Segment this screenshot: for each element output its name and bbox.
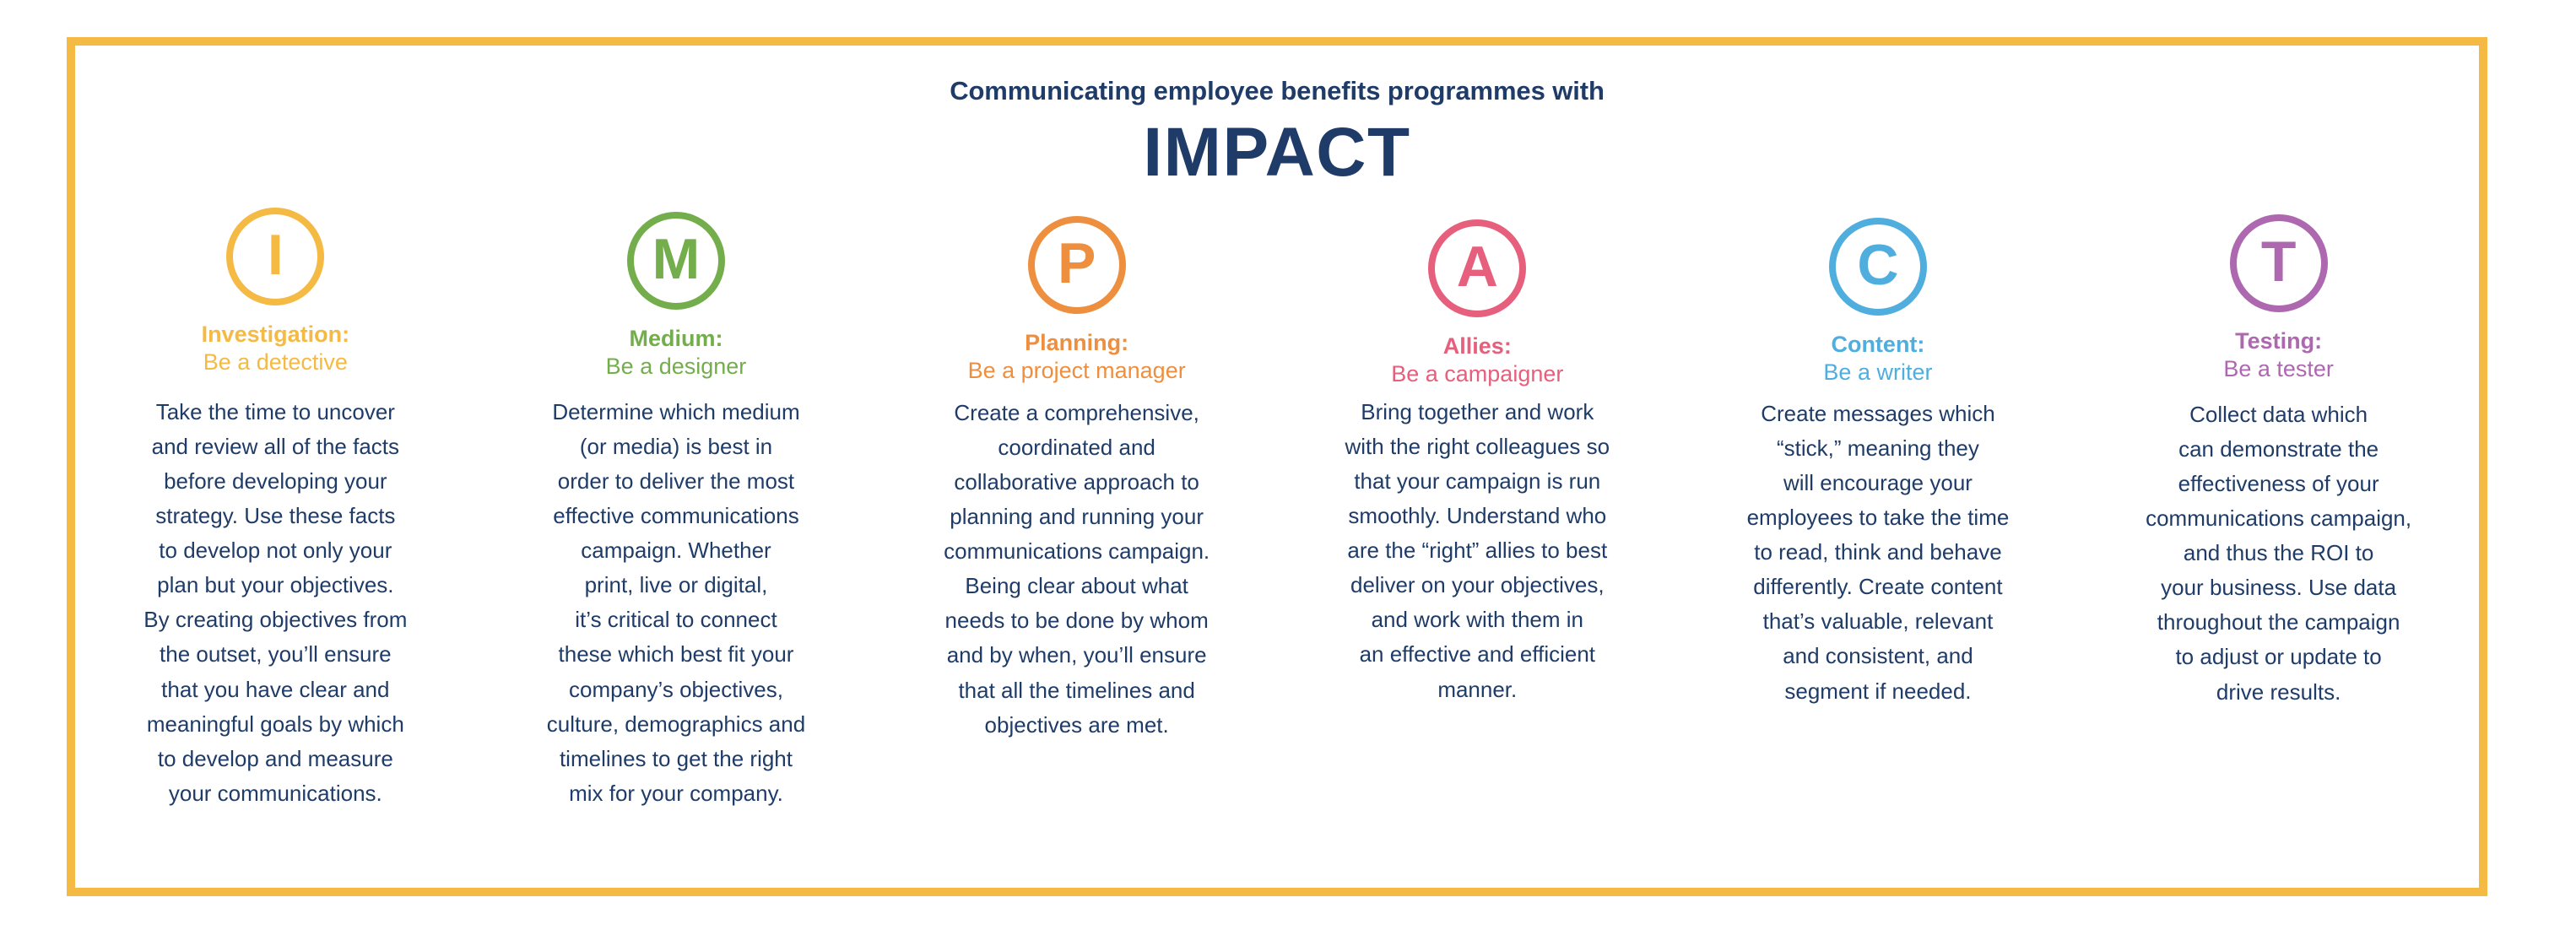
poster-frame: Communicating employee benefits programm…	[67, 37, 2487, 896]
impact-column-content: C Content: Be a writer Create messages w…	[1678, 208, 2079, 709]
column-heading: Investigation: Be a detective	[202, 321, 350, 376]
column-title: Allies:	[1391, 332, 1563, 360]
impact-column-medium: M Medium: Be a designer Determine which …	[476, 208, 877, 811]
impact-column-allies: A Allies: Be a campaigner Bring together…	[1277, 208, 1678, 707]
column-body: Take the time to uncover and review all …	[82, 395, 469, 811]
badge-letter-text: A	[1457, 238, 1498, 295]
column-body: Collect data which can demonstrate the e…	[2085, 397, 2472, 710]
letter-badge-c-icon: C	[1829, 218, 1927, 316]
badge-letter-text: T	[2261, 233, 2297, 290]
impact-column-planning: P Planning: Be a project manager Create …	[876, 208, 1277, 743]
column-title: Content:	[1823, 331, 1932, 359]
column-subtitle: Be a writer	[1823, 359, 1932, 386]
column-title: Testing:	[2223, 327, 2334, 355]
column-title: Medium:	[606, 325, 747, 353]
column-subtitle: Be a tester	[2223, 355, 2334, 383]
impact-infographic: Communicating employee benefits programm…	[0, 0, 2576, 935]
letter-badge-a-icon: A	[1428, 219, 1526, 317]
letter-badge-i-icon: I	[226, 208, 324, 305]
column-heading: Allies: Be a campaigner	[1391, 332, 1563, 388]
page-kicker: Communicating employee benefits programm…	[75, 46, 2479, 106]
badge-letter-text: M	[652, 230, 701, 288]
column-title: Planning:	[968, 329, 1186, 357]
column-subtitle: Be a campaigner	[1391, 360, 1563, 388]
column-title: Investigation:	[202, 321, 350, 349]
column-heading: Testing: Be a tester	[2223, 327, 2334, 383]
column-subtitle: Be a detective	[202, 349, 350, 376]
badge-letter-text: P	[1058, 235, 1096, 292]
column-body: Create a comprehensive, coordinated and …	[883, 396, 1270, 743]
impact-columns: I Investigation: Be a detective Take the…	[75, 208, 2479, 811]
badge-letter-text: C	[1857, 236, 1898, 294]
impact-column-investigation: I Investigation: Be a detective Take the…	[75, 208, 476, 811]
column-heading: Planning: Be a project manager	[968, 329, 1186, 385]
page-title: IMPACT	[75, 106, 2479, 187]
column-body: Create messages which “stick,” meaning t…	[1685, 397, 2072, 709]
column-body: Bring together and work with the right c…	[1284, 395, 1671, 707]
column-body: Determine which medium (or media) is bes…	[483, 395, 870, 811]
badge-letter-text: I	[268, 226, 284, 284]
column-subtitle: Be a project manager	[968, 357, 1186, 385]
column-heading: Content: Be a writer	[1823, 331, 1932, 386]
column-heading: Medium: Be a designer	[606, 325, 747, 381]
letter-badge-t-icon: T	[2230, 214, 2328, 312]
column-subtitle: Be a designer	[606, 353, 747, 381]
impact-column-testing: T Testing: Be a tester Collect data whic…	[2078, 208, 2479, 710]
poster-header: Communicating employee benefits programm…	[75, 46, 2479, 187]
letter-badge-m-icon: M	[627, 212, 725, 310]
letter-badge-p-icon: P	[1028, 216, 1126, 314]
